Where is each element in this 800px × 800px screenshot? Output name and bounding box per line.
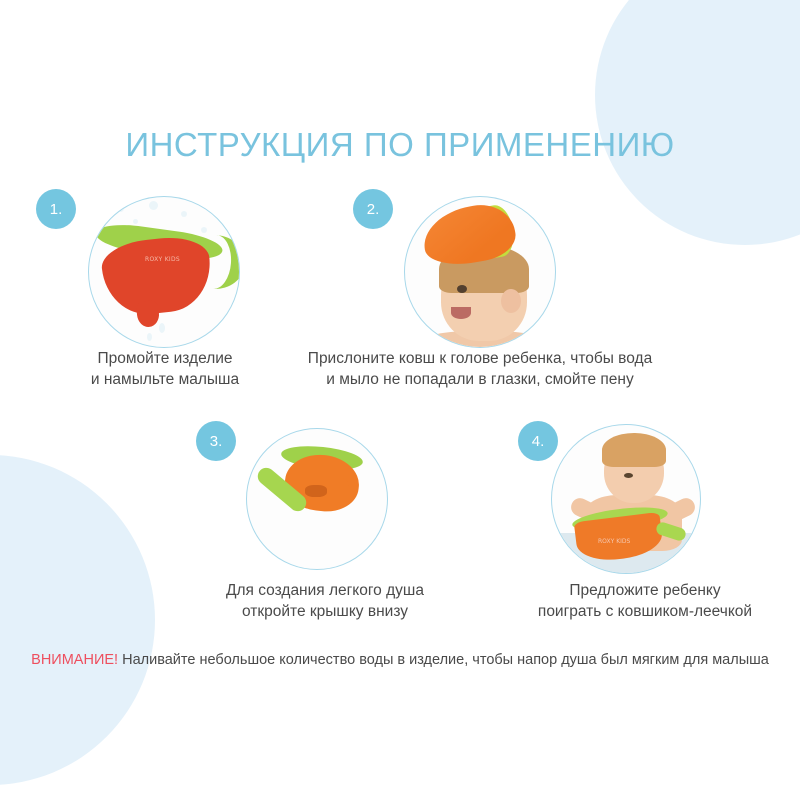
baby-hair <box>602 433 666 467</box>
water-drop-icon <box>147 333 152 341</box>
illustration-scoop-open-cap <box>247 429 387 569</box>
water-drop-icon <box>133 219 138 224</box>
illustration-baby-playing: ROXY KIDS <box>552 425 700 573</box>
step-3-caption: Для создания легкого душа откройте крышк… <box>180 580 470 622</box>
step-1-badge: 1. <box>36 189 76 229</box>
baby-eye <box>457 285 467 293</box>
decorative-blob-top-right <box>595 0 800 245</box>
product-spout <box>136 300 161 328</box>
step-3-image <box>246 428 388 570</box>
decorative-blob-bottom-left <box>0 455 155 785</box>
instruction-page: ИНСТРУКЦИЯ ПО ПРИМЕНЕНИЮ ROXY KIDS 1. Пр… <box>0 0 800 800</box>
warning-accent: ВНИМАНИЕ! <box>31 652 118 668</box>
water-drop-icon <box>149 201 158 210</box>
brand-logo: ROXY KIDS <box>598 539 630 545</box>
step-4-image: ROXY KIDS <box>551 424 701 574</box>
product-shower-grid <box>305 485 327 497</box>
warning-bar: ВНИМАНИЕ! Наливайте небольшое количество… <box>0 652 800 668</box>
step-2-caption: Прислоните ковш к голове ребенка, чтобы … <box>265 348 695 390</box>
baby-ear <box>501 289 521 313</box>
water-drop-icon <box>181 211 187 217</box>
step-4-caption: Предложите ребенку поиграть с ковшиком-л… <box>500 580 790 622</box>
brand-logo: ROXY KIDS <box>145 257 180 263</box>
water-drop-icon <box>117 205 124 212</box>
water-drop-icon <box>159 323 165 333</box>
step-3-badge: 3. <box>196 421 236 461</box>
warning-text: Наливайте небольшое количество воды в из… <box>118 652 769 668</box>
baby-eye <box>624 473 633 478</box>
step-2-image <box>404 196 556 348</box>
page-title: ИНСТРУКЦИЯ ПО ПРИМЕНЕНИЮ <box>0 126 800 164</box>
step-1-image: ROXY KIDS <box>88 196 240 348</box>
illustration-baby-with-scoop <box>405 197 555 347</box>
step-2-badge: 2. <box>353 189 393 229</box>
water-drop-icon <box>201 227 207 233</box>
step-4-badge: 4. <box>518 421 558 461</box>
illustration-product-rinse: ROXY KIDS <box>89 197 239 347</box>
baby-mouth <box>451 307 471 319</box>
